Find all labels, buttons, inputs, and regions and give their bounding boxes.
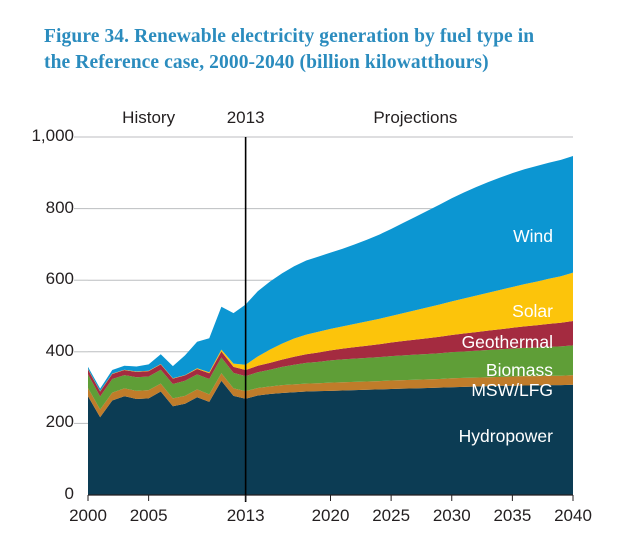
x-axis-tick-label-2020: 2020: [296, 506, 366, 526]
y-axis-tick-label-800: 800: [0, 198, 74, 218]
series-label-hydropower: Hydropower: [0, 426, 553, 447]
x-axis-tick-label-2013: 2013: [211, 506, 281, 526]
stacked-area-chart: [0, 0, 623, 553]
series-label-geothermal: Geothermal: [0, 332, 553, 353]
series-label-solar: Solar: [0, 301, 553, 322]
series-label-biomass: Biomass: [0, 360, 553, 381]
x-axis-tick-label-2040: 2040: [538, 506, 608, 526]
x-axis-tick-label-2000: 2000: [53, 506, 123, 526]
annotation-divider-year: 2013: [186, 108, 306, 128]
series-label-wind: Wind: [0, 226, 553, 247]
x-tick-marks: [88, 495, 573, 501]
figure-container: Figure 34. Renewable electricity generat…: [0, 0, 623, 553]
y-axis-tick-label-0: 0: [0, 484, 74, 504]
x-axis-tick-label-2030: 2030: [417, 506, 487, 526]
x-axis-tick-label-2025: 2025: [356, 506, 426, 526]
x-axis-tick-label-2035: 2035: [477, 506, 547, 526]
x-axis-tick-label-2005: 2005: [114, 506, 184, 526]
y-axis-tick-label-600: 600: [0, 269, 74, 289]
chart-plot-area: [0, 0, 623, 553]
series-label-msw-lfg: MSW/LFG: [0, 380, 553, 401]
y-axis-tick-label-1000: 1,000: [0, 126, 74, 146]
annotation-projections: Projections: [345, 108, 485, 128]
